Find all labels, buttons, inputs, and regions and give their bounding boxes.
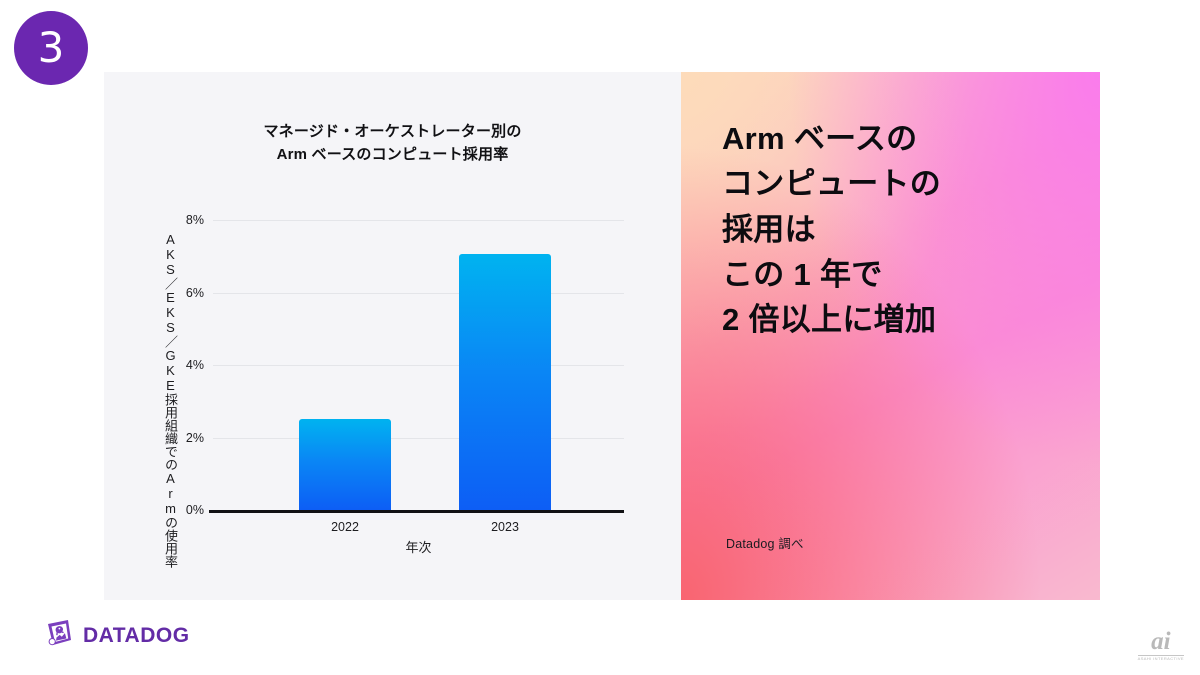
headline-text: Arm ベースの コンピュートの 採用は この 1 年で 2 倍以上に増加: [722, 116, 941, 342]
y-tick-label: 2%: [186, 431, 204, 445]
plot-area: 8% 6% 4% 2% 0% 2022 2023: [213, 220, 624, 580]
datadog-logo: DATADOG: [44, 618, 190, 653]
x-tick-label-2022: 2022: [331, 520, 359, 534]
y-tick-label: 0%: [186, 503, 204, 517]
ai-watermark-subtext: ASAHI INTERACTIVE: [1138, 655, 1184, 661]
x-tick-label-2023: 2023: [491, 520, 519, 534]
datadog-dog-icon: [44, 618, 74, 653]
bar-2023[interactable]: [459, 254, 551, 510]
step-number-badge: 3: [14, 11, 88, 85]
chart-title: マネージド・オーケストレーター別の Arm ベースのコンピュート採用率: [104, 120, 681, 167]
ai-watermark-text: ai: [1151, 628, 1170, 655]
step-number-label: 3: [38, 27, 65, 69]
slide-content: マネージド・オーケストレーター別の Arm ベースのコンピュート採用率 AKS／…: [104, 72, 1100, 600]
y-axis-title: AKS／EKS／GKE採用組織でのArmの使用率: [144, 232, 178, 532]
datadog-wordmark: DATADOG: [83, 624, 190, 648]
bar-series: [213, 220, 624, 510]
y-tick-label: 8%: [186, 213, 204, 227]
y-tick-label: 4%: [186, 358, 204, 372]
source-note: Datadog 調べ: [726, 533, 804, 552]
x-axis-title: 年次: [213, 537, 624, 556]
y-tick-label: 6%: [186, 286, 204, 300]
x-axis-line: [209, 510, 624, 513]
bar-2022[interactable]: [299, 419, 391, 510]
headline-panel: Arm ベースの コンピュートの 採用は この 1 年で 2 倍以上に増加 Da…: [681, 72, 1100, 600]
ai-watermark: ai ASAHI INTERACTIVE: [1138, 629, 1184, 661]
chart-panel: マネージド・オーケストレーター別の Arm ベースのコンピュート採用率 AKS／…: [104, 72, 681, 600]
